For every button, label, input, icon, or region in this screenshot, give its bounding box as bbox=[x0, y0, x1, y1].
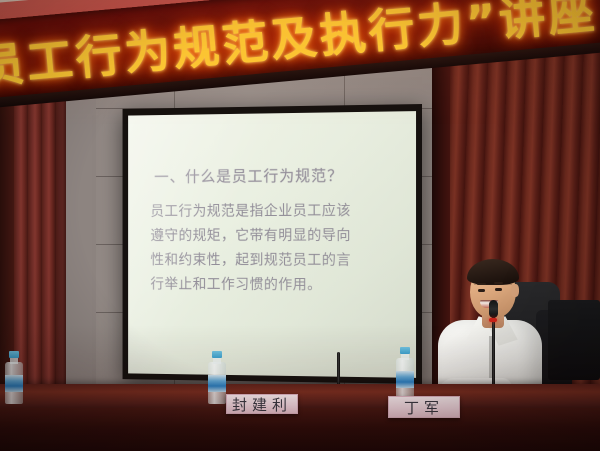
microphone-capsule-right bbox=[489, 300, 498, 318]
water-bottle-middle bbox=[208, 352, 226, 404]
head-table-top bbox=[0, 384, 600, 410]
nameplate-right: 丁军 bbox=[388, 396, 460, 418]
slide-body-line-4: 行举止和工作习惯的作用。 bbox=[150, 273, 402, 299]
slide-body-line-3: 性和约束性，起到规范员工的言 bbox=[150, 249, 402, 274]
speaker-hair bbox=[467, 259, 519, 285]
projection-screen: 一、什么是员工行为规范？ 员工行为规范是指企业员工应该 遵守的规矩，它带有明显的… bbox=[123, 104, 422, 384]
microphone-led-ring-right bbox=[489, 318, 497, 322]
laptop-on-desk bbox=[548, 300, 600, 380]
nameplate-left-text: 封建利 bbox=[232, 394, 292, 415]
speaker-eye-left bbox=[478, 289, 485, 292]
slide-body-line-1: 员工行为规范是指企业员工应该 bbox=[150, 199, 402, 225]
slide-title: 一、什么是员工行为规范？ bbox=[154, 166, 343, 187]
water-bottle-right bbox=[396, 348, 414, 400]
photo-scene: 员工行为规范及执行力”讲座 一、什么是员工行为规范？ 员工行为规范是指企业员工应… bbox=[0, 0, 600, 451]
water-bottle-left bbox=[5, 352, 23, 404]
slide-body-line-2: 遵守的规矩，它带有明显的导向 bbox=[150, 224, 402, 249]
nameplate-left: 封建利 bbox=[226, 394, 298, 414]
face-shadow-line bbox=[474, 284, 512, 285]
microphone-stem-right bbox=[492, 312, 495, 390]
head-table-front-panel bbox=[0, 408, 600, 451]
speaker-ear bbox=[511, 284, 519, 297]
microphone-stem-left bbox=[337, 352, 340, 386]
nameplate-right-text: 丁军 bbox=[404, 397, 444, 418]
projection-screen-surface: 一、什么是员工行为规范？ 员工行为规范是指企业员工应该 遵守的规矩，它带有明显的… bbox=[128, 111, 416, 378]
speaker-eye-right bbox=[495, 288, 502, 291]
slide-body: 员工行为规范是指企业员工应该 遵守的规矩，它带有明显的导向 性和约束性，起到规范… bbox=[150, 199, 402, 299]
